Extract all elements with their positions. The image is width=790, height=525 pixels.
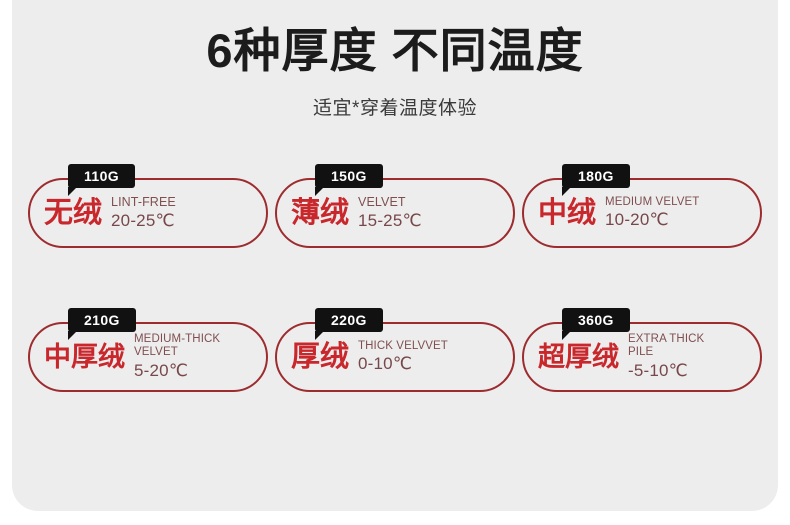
card-meta: MEDIUM-THICK VELVET 5-20℃ [134, 333, 266, 381]
card-temperature: 5-20℃ [134, 361, 266, 381]
thickness-card[interactable]: 150G 薄绒 VELVET 15-25℃ [275, 178, 515, 248]
thickness-grid: 110G 无绒 LINT-FREE 20-25℃ 150G 薄绒 VELVET … [12, 178, 778, 392]
card-title-en: EXTRA THICK PILE [628, 333, 760, 360]
thickness-card[interactable]: 360G 超厚绒 EXTRA THICK PILE -5-10℃ [522, 322, 762, 392]
thickness-card[interactable]: 220G 厚绒 THICK VELVVET 0-10℃ [275, 322, 515, 392]
card-meta: EXTRA THICK PILE -5-10℃ [628, 333, 760, 381]
card-meta: VELVET 15-25℃ [358, 195, 513, 231]
card-row-2: 210G 中厚绒 MEDIUM-THICK VELVET 5-20℃ 220G … [12, 322, 778, 392]
card-title-cn: 无绒 [44, 199, 102, 228]
promo-panel: 6种厚度 不同温度 适宜*穿着温度体验 110G 无绒 LINT-FREE 20… [12, 0, 778, 511]
card-temperature: 15-25℃ [358, 211, 513, 231]
card-temperature: 0-10℃ [358, 354, 513, 374]
card-title-en: MEDIUM-THICK VELVET [134, 333, 266, 360]
weight-badge: 180G [562, 164, 630, 188]
card-row-1: 110G 无绒 LINT-FREE 20-25℃ 150G 薄绒 VELVET … [12, 178, 778, 248]
card-title-en: THICK VELVVET [358, 340, 513, 354]
card-meta: LINT-FREE 20-25℃ [111, 195, 266, 231]
thickness-card[interactable]: 110G 无绒 LINT-FREE 20-25℃ [28, 178, 268, 248]
page-title: 6种厚度 不同温度 [12, 26, 778, 77]
card-title-cn: 中厚绒 [44, 344, 125, 371]
card-temperature: -5-10℃ [628, 361, 760, 381]
card-title-en: VELVET [358, 195, 513, 210]
card-temperature: 10-20℃ [605, 210, 760, 230]
card-temperature: 20-25℃ [111, 211, 266, 231]
thickness-card[interactable]: 210G 中厚绒 MEDIUM-THICK VELVET 5-20℃ [28, 322, 268, 392]
thickness-card[interactable]: 180G 中绒 MEDIUM VELVET 10-20℃ [522, 178, 762, 248]
weight-badge: 210G [68, 308, 136, 332]
card-title-cn: 中绒 [538, 199, 596, 228]
weight-badge: 110G [68, 164, 135, 188]
weight-badge: 150G [315, 164, 383, 188]
card-title-en: LINT-FREE [111, 195, 266, 210]
card-title-en: MEDIUM VELVET [605, 196, 760, 210]
card-title-cn: 超厚绒 [538, 344, 619, 371]
page-subtitle: 适宜*穿着温度体验 [12, 93, 778, 120]
card-meta: MEDIUM VELVET 10-20℃ [605, 196, 760, 231]
card-title-cn: 厚绒 [291, 343, 349, 372]
card-title-cn: 薄绒 [291, 199, 349, 228]
card-meta: THICK VELVVET 0-10℃ [358, 340, 513, 375]
weight-badge: 220G [315, 308, 383, 332]
header-block: 6种厚度 不同温度 适宜*穿着温度体验 [12, 0, 778, 120]
weight-badge: 360G [562, 308, 630, 332]
